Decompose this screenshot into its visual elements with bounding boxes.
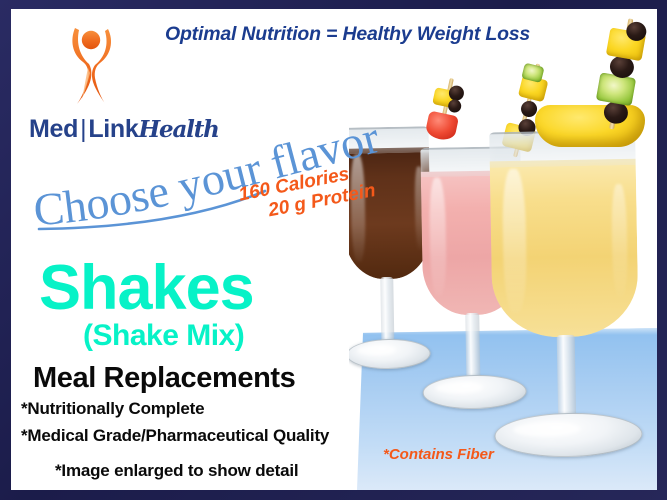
product-category: Meal Replacements	[33, 362, 295, 395]
product-subtitle: (Shake Mix)	[83, 319, 244, 353]
bullet-image-enlarged: *Image enlarged to show detail	[55, 461, 298, 481]
berry-piece-icon	[447, 98, 462, 113]
shake-photo	[349, 9, 657, 490]
kiwi-piece-icon	[596, 72, 636, 106]
banana-shake-glass	[475, 130, 657, 469]
fruit-skewer	[421, 75, 469, 143]
contains-fiber-note: *Contains Fiber	[383, 446, 494, 463]
poster-inner-canvas: Med|LinkHealth Optimal Nutrition = Healt…	[11, 9, 657, 490]
wordmark-divider: |	[78, 115, 88, 143]
bullet-medical-grade: *Medical Grade/Pharmaceutical Quality	[21, 426, 329, 446]
wordmark-med: Med	[29, 115, 78, 143]
wordmark-health: Health	[139, 116, 219, 143]
product-title: Shakes	[39, 257, 254, 320]
bullet-nutritionally-complete: *Nutritionally Complete	[21, 399, 204, 419]
tagline-text: Optimal Nutrition = Healthy Weight Loss	[165, 23, 530, 46]
glass-foot	[494, 412, 643, 459]
brand-wordmark: Med|LinkHealth	[29, 115, 219, 144]
wordmark-link: Link	[88, 115, 138, 143]
person-raised-arms-icon	[63, 23, 121, 111]
glass-bowl	[489, 130, 639, 339]
advertisement-poster: Med|LinkHealth Optimal Nutrition = Healt…	[0, 0, 667, 500]
headline-swoosh	[39, 191, 265, 229]
